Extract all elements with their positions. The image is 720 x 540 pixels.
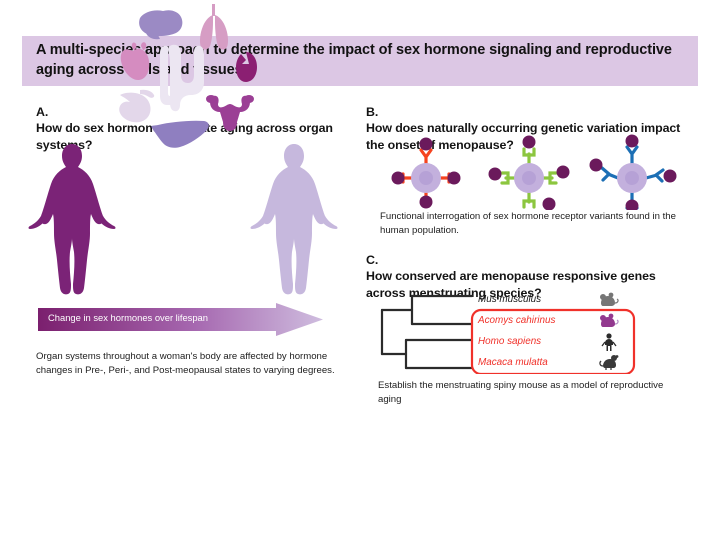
- mouse-icon-gray: [598, 292, 620, 308]
- ligand: [543, 198, 556, 211]
- receptor-cell-red: [392, 138, 461, 209]
- brain-icon: [139, 10, 182, 39]
- species-label-homo-sapiens: Homo sapiens: [478, 337, 541, 347]
- receptor-variant-figure: [390, 134, 700, 210]
- ligand: [392, 172, 405, 185]
- monkey-icon: [598, 354, 620, 370]
- figure-canvas: A multi-species approach to determine th…: [0, 0, 720, 540]
- ligand: [523, 136, 536, 149]
- liver-icon: [151, 121, 208, 148]
- ligand: [626, 200, 639, 211]
- human-icon: [601, 333, 617, 351]
- panel-a-figure: [28, 138, 348, 303]
- stomach-icon: [119, 90, 154, 123]
- ligand: [420, 138, 433, 151]
- species-label-mus-musculus: Mus musculus: [478, 295, 541, 305]
- panel-a-caption: Organ systems throughout a woman's body …: [36, 350, 336, 377]
- receptor-cell-blue: [590, 135, 677, 211]
- species-label-acomys-cahirinus: Acomys cahirinus: [478, 316, 555, 326]
- cell-nucleus: [625, 171, 639, 185]
- ligand: [448, 172, 461, 185]
- cell-nucleus: [419, 171, 433, 185]
- lungs-icon: [200, 4, 228, 50]
- receptor-cell-green: [489, 136, 570, 211]
- organ-cluster: [118, 0, 263, 150]
- ligand: [557, 166, 570, 179]
- heart-icon: [121, 42, 150, 80]
- ligand: [590, 159, 603, 172]
- kidney-icon: [236, 52, 257, 82]
- ligand: [489, 168, 502, 181]
- female-body-silhouette-light: [251, 144, 338, 294]
- uterus-icon: [206, 95, 254, 131]
- female-body-silhouette-dark: [29, 144, 116, 294]
- cell-nucleus: [522, 171, 536, 185]
- species-label-macaca-mulatta: Macaca mulatta: [478, 358, 548, 368]
- panel-c-caption: Establish the menstruating spiny mouse a…: [378, 379, 678, 406]
- panel-a-label: A.: [36, 104, 51, 120]
- panel-b-caption: Functional interrogation of sex hormone …: [380, 210, 690, 237]
- ligand: [664, 170, 677, 183]
- mouse-icon-purple: [598, 313, 620, 329]
- ligand: [420, 196, 433, 209]
- panel-b-label: B.: [366, 104, 381, 120]
- ligand: [626, 135, 639, 148]
- lifespan-arrow-label: Change in sex hormones over lifespan: [48, 312, 278, 323]
- intestines-icon: [160, 45, 204, 112]
- panel-c-label: C.: [366, 252, 381, 268]
